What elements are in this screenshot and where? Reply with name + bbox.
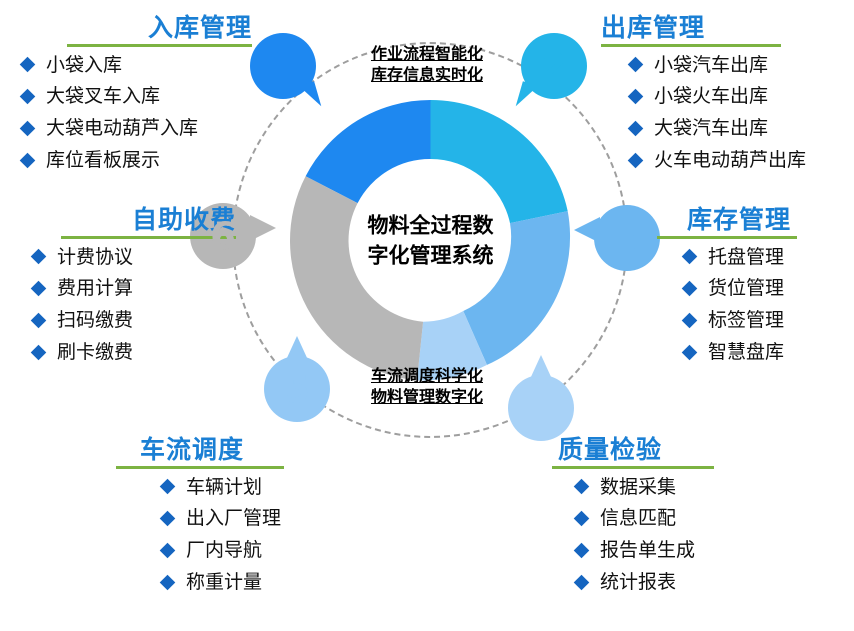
annotation-top-line-1: 作业流程智能化 — [352, 44, 502, 65]
section-outbound-title: 出库管理 — [601, 14, 705, 42]
section-quality-title: 质量检验 — [558, 436, 662, 464]
diamond-bullet-icon — [31, 345, 47, 361]
section-inventory-title: 库存管理 — [687, 206, 791, 234]
bubble-number-5: 5 — [284, 371, 310, 408]
list-item-label: 刷卡缴费 — [57, 342, 133, 363]
list-item[interactable]: 刷卡缴费 — [33, 342, 236, 363]
diamond-bullet-icon — [20, 89, 36, 105]
donut-segment-dispatch-selfpay — [290, 176, 423, 380]
diamond-bullet-icon — [628, 153, 644, 169]
list-item[interactable]: 计费协议 — [33, 247, 236, 268]
diamond-bullet-icon — [682, 345, 698, 361]
list-item[interactable]: 货位管理 — [684, 278, 854, 299]
diamond-bullet-icon — [20, 153, 36, 169]
diamond-bullet-icon — [160, 479, 176, 495]
list-item-label: 数据采集 — [600, 477, 676, 498]
diamond-bullet-icon — [682, 281, 698, 297]
list-item-label: 大袋电动葫芦入库 — [46, 118, 198, 139]
list-item[interactable]: 大袋电动葫芦入库 — [22, 118, 252, 139]
bubble-marker-3[interactable]: 3 — [594, 205, 660, 271]
section-quality-rule — [552, 466, 714, 469]
list-item-label: 费用计算 — [57, 278, 133, 299]
diamond-bullet-icon — [682, 313, 698, 329]
diamond-bullet-icon — [160, 575, 176, 591]
diamond-bullet-icon — [20, 121, 36, 137]
section-inbound-list: 小袋入库 大袋叉车入库 大袋电动葫芦入库 库位看板展示 — [22, 55, 252, 172]
diamond-bullet-icon — [628, 121, 644, 137]
diamond-bullet-icon — [682, 249, 698, 265]
list-item-label: 计费协议 — [57, 247, 133, 268]
diamond-bullet-icon — [574, 575, 590, 591]
list-item[interactable]: 车辆计划 — [162, 477, 380, 498]
bubble-number-4: 4 — [528, 390, 554, 427]
list-item-label: 标签管理 — [708, 310, 784, 331]
list-item-label: 货位管理 — [708, 278, 784, 299]
diamond-bullet-icon — [31, 313, 47, 329]
annotation-bottom: 车流调度科学化 物料管理数字化 — [352, 366, 502, 408]
section-inbound-header: 入库管理 — [22, 14, 252, 47]
donut-chart: 物料全过程数 字化管理系统 — [288, 98, 573, 383]
section-inbound-rule — [67, 44, 252, 47]
section-inbound-title: 入库管理 — [148, 14, 252, 42]
center-line-2: 字化管理系统 — [336, 241, 526, 271]
list-item[interactable]: 数据采集 — [576, 477, 798, 498]
list-item[interactable]: 火车电动葫芦出库 — [630, 150, 841, 171]
infographic-canvas: 物料全过程数 字化管理系统 作业流程智能化 库存信息实时化 车流调度科学化 物料… — [0, 0, 854, 631]
section-inventory: 库存管理 托盘管理 货位管理 标签管理 智慧盘库 — [687, 206, 854, 374]
list-item[interactable]: 小袋火车出库 — [630, 86, 841, 107]
diamond-bullet-icon — [628, 89, 644, 105]
section-outbound: 出库管理 小袋汽车出库 小袋火车出库 大袋汽车出库 火车电动葫芦出库 — [601, 14, 841, 182]
list-item-label: 厂内导航 — [186, 540, 262, 561]
list-item[interactable]: 小袋汽车出库 — [630, 55, 841, 76]
section-inventory-list: 托盘管理 货位管理 标签管理 智慧盘库 — [684, 247, 854, 364]
section-inventory-header: 库存管理 — [687, 206, 854, 239]
list-item-label: 小袋汽车出库 — [654, 55, 768, 76]
bubble-marker-2[interactable]: 2 — [521, 33, 587, 99]
diamond-bullet-icon — [574, 511, 590, 527]
bubble-tail-3 — [574, 217, 600, 243]
diamond-bullet-icon — [20, 57, 36, 73]
bubble-marker-5[interactable]: 5 — [264, 356, 330, 422]
annotation-top: 作业流程智能化 库存信息实时化 — [352, 44, 502, 86]
list-item-label: 报告单生成 — [600, 540, 695, 561]
section-dispatch-list: 车辆计划 出入厂管理 厂内导航 称重计量 — [162, 477, 380, 594]
section-inbound: 入库管理 小袋入库 大袋叉车入库 大袋电动葫芦入库 库位看板展示 — [22, 14, 252, 182]
list-item[interactable]: 大袋汽车出库 — [630, 118, 841, 139]
list-item-label: 小袋入库 — [46, 55, 122, 76]
list-item[interactable]: 小袋入库 — [22, 55, 252, 76]
bubble-number-2: 2 — [541, 48, 567, 85]
section-quality: 质量检验 数据采集 信息匹配 报告单生成 统计报表 — [558, 436, 798, 604]
list-item-label: 大袋汽车出库 — [654, 118, 768, 139]
section-quality-list: 数据采集 信息匹配 报告单生成 统计报表 — [576, 477, 798, 594]
annotation-top-line-2: 库存信息实时化 — [352, 65, 502, 86]
list-item-label: 小袋火车出库 — [654, 86, 768, 107]
section-selfpay: 自助收费 计费协议 费用计算 扫码缴费 刷卡缴费 — [16, 206, 236, 374]
list-item[interactable]: 报告单生成 — [576, 540, 798, 561]
list-item-label: 统计报表 — [600, 572, 676, 593]
diamond-bullet-icon — [574, 543, 590, 559]
list-item-label: 扫码缴费 — [57, 310, 133, 331]
bubble-number-1: 1 — [270, 48, 296, 85]
section-outbound-header: 出库管理 — [601, 14, 841, 47]
section-quality-header: 质量检验 — [558, 436, 798, 469]
bubble-number-6: 6 — [210, 218, 236, 255]
list-item[interactable]: 出入厂管理 — [162, 508, 380, 529]
diamond-bullet-icon — [31, 281, 47, 297]
diamond-bullet-icon — [574, 479, 590, 495]
section-outbound-list: 小袋汽车出库 小袋火车出库 大袋汽车出库 火车电动葫芦出库 — [630, 55, 841, 172]
list-item[interactable]: 库位看板展示 — [22, 150, 252, 171]
bubble-marker-1[interactable]: 1 — [250, 33, 316, 99]
diamond-bullet-icon — [31, 249, 47, 265]
list-item-label: 智慧盘库 — [708, 342, 784, 363]
list-item[interactable]: 厂内导航 — [162, 540, 380, 561]
list-item-label: 火车电动葫芦出库 — [654, 150, 806, 171]
center-line-1: 物料全过程数 — [336, 210, 526, 240]
annotation-bottom-line-2: 物料管理数字化 — [352, 387, 502, 408]
list-item[interactable]: 托盘管理 — [684, 247, 854, 268]
list-item[interactable]: 智慧盘库 — [684, 342, 854, 363]
donut-center-label: 物料全过程数 字化管理系统 — [336, 210, 526, 271]
list-item-label: 库位看板展示 — [46, 150, 160, 171]
section-dispatch-rule — [116, 466, 284, 469]
list-item[interactable]: 费用计算 — [33, 278, 236, 299]
section-inventory-rule — [657, 236, 797, 239]
annotation-bottom-line-1: 车流调度科学化 — [352, 366, 502, 387]
list-item-label: 称重计量 — [186, 572, 262, 593]
diamond-bullet-icon — [160, 511, 176, 527]
bubble-marker-4[interactable]: 4 — [508, 375, 574, 441]
list-item-label: 车辆计划 — [186, 477, 262, 498]
list-item[interactable]: 大袋叉车入库 — [22, 86, 252, 107]
list-item[interactable]: 称重计量 — [162, 572, 380, 593]
section-dispatch: 车流调度 车辆计划 出入厂管理 厂内导航 称重计量 — [140, 436, 380, 604]
section-dispatch-header: 车流调度 — [140, 436, 380, 469]
diamond-bullet-icon — [160, 543, 176, 559]
section-selfpay-list: 计费协议 费用计算 扫码缴费 刷卡缴费 — [33, 247, 236, 364]
list-item-label: 出入厂管理 — [186, 508, 281, 529]
bubble-tail-4 — [530, 355, 552, 379]
donut-segment-outbound — [431, 100, 568, 223]
list-item[interactable]: 标签管理 — [684, 310, 854, 331]
list-item[interactable]: 信息匹配 — [576, 508, 798, 529]
list-item-label: 大袋叉车入库 — [46, 86, 160, 107]
list-item[interactable]: 统计报表 — [576, 572, 798, 593]
list-item[interactable]: 扫码缴费 — [33, 310, 236, 331]
list-item-label: 信息匹配 — [600, 508, 676, 529]
bubble-tail-5 — [286, 336, 308, 360]
section-outbound-rule — [601, 44, 781, 47]
section-selfpay-header: 自助收费 — [16, 206, 236, 239]
bubble-tail-6 — [250, 215, 276, 241]
section-dispatch-title: 车流调度 — [140, 436, 244, 464]
diamond-bullet-icon — [628, 57, 644, 73]
list-item-label: 托盘管理 — [708, 247, 784, 268]
bubble-number-3: 3 — [614, 220, 640, 257]
